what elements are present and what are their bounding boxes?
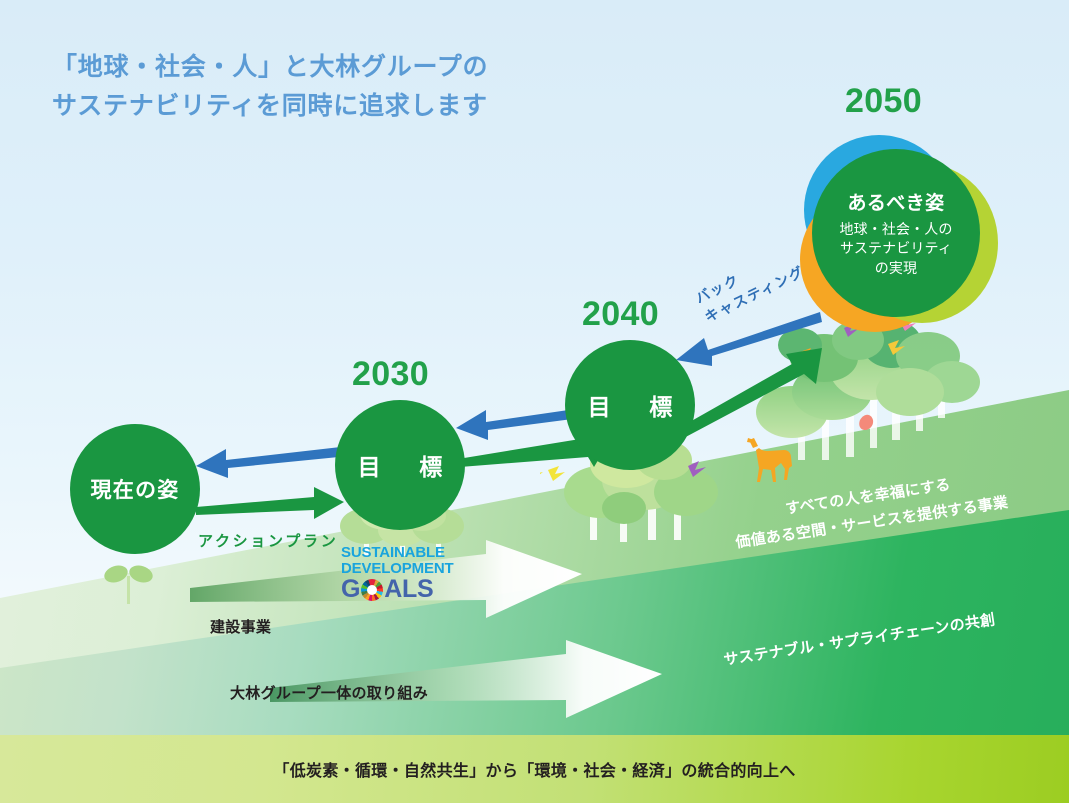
- sdg-logo: SUSTAINABLE DEVELOPMENT G ALS: [341, 545, 441, 601]
- footer-statement: 「低炭素・循環・自然共生」から「環境・社会・経済」の統合的向上へ: [0, 757, 1069, 781]
- forward-arrow-2040-to-2050: [672, 340, 832, 440]
- sdg-logo-als: ALS: [384, 577, 433, 602]
- node-target-2030[interactable]: 目 標: [335, 400, 465, 530]
- node-target-2040-label: 目 標: [580, 388, 680, 422]
- label-group-effort: 大林グループ一体の取り組み: [230, 682, 428, 703]
- petal-green-core: あるべき姿 地球・社会・人の サステナビリティ の実現: [812, 149, 980, 317]
- sdg-logo-line3: G ALS: [341, 577, 441, 602]
- forward-arrow-now-to-2030: [196, 485, 346, 521]
- sdg-logo-g: G: [341, 577, 360, 602]
- year-label-2040: 2040: [582, 295, 659, 334]
- year-label-2050: 2050: [845, 82, 922, 121]
- vision-2050-sub-line2: サステナビリティ: [839, 239, 952, 258]
- page-title: 「地球・社会・人」と大林グループの サステナビリティを同時に追求します: [52, 48, 488, 126]
- node-vision-2050[interactable]: あるべき姿 地球・社会・人の サステナビリティ の実現: [800, 135, 1000, 330]
- sprout-icon: [104, 558, 154, 606]
- page-title-line1: 「地球・社会・人」と大林グループの: [52, 48, 488, 87]
- year-label-2030: 2030: [352, 355, 429, 394]
- vision-2050-sub-line3: の実現: [839, 259, 952, 278]
- node-current-state-label: 現在の姿: [90, 474, 179, 504]
- node-target-2030-label: 目 標: [350, 448, 450, 482]
- vision-2050-subtitle: 地球・社会・人の サステナビリティ の実現: [839, 220, 952, 278]
- infographic-canvas: 「地球・社会・人」と大林グループの サステナビリティを同時に追求します 現在の姿…: [0, 0, 1069, 803]
- action-plan-caption: アクションプラン: [198, 530, 338, 551]
- page-title-line2: サステナビリティを同時に追求します: [52, 87, 488, 126]
- sdg-logo-line2: DEVELOPMENT: [341, 561, 441, 576]
- sdg-logo-line1: SUSTAINABLE: [341, 545, 441, 560]
- vision-2050-title: あるべき姿: [848, 188, 945, 215]
- label-construction-business: 建設事業: [210, 616, 271, 637]
- node-target-2040[interactable]: 目 標: [565, 340, 695, 470]
- node-current-state[interactable]: 現在の姿: [70, 424, 200, 554]
- sdg-color-wheel-icon: [361, 579, 383, 601]
- vision-2050-sub-line1: 地球・社会・人の: [839, 220, 952, 239]
